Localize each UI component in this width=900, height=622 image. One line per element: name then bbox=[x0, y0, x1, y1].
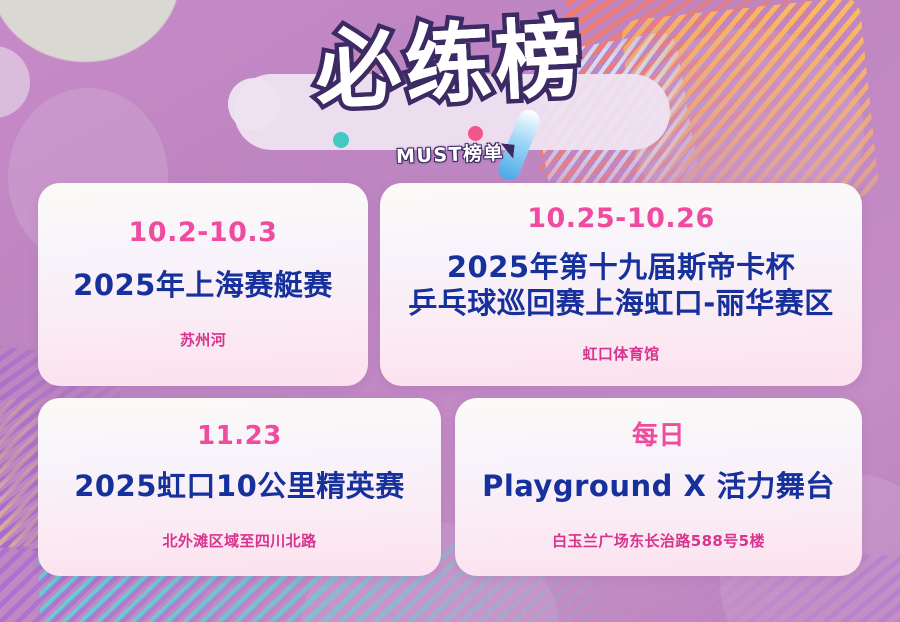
event-card-2[interactable]: 10.25-10.26 2025年第十九届斯帝卡杯 乒乓球巡回赛上海虹口-丽华赛… bbox=[380, 183, 862, 386]
event-title-line: 乒乓球巡回赛上海虹口-丽华赛区 bbox=[408, 286, 834, 321]
logo-subtitle: MUST榜单 bbox=[0, 124, 900, 182]
event-title-line: 2025年第十九届斯帝卡杯 bbox=[408, 250, 834, 285]
event-date: 每日 bbox=[632, 423, 685, 449]
event-venue: 虹口体育馆 bbox=[582, 343, 659, 364]
event-title-line: 2025年上海赛艇赛 bbox=[73, 268, 333, 303]
event-title: Playground X 活力舞台 bbox=[482, 469, 835, 504]
event-date: 10.2-10.3 bbox=[129, 219, 278, 246]
logo-group: 必练榜 必练榜 MUST榜单 bbox=[0, 0, 900, 182]
event-date: 10.25-10.26 bbox=[527, 205, 715, 232]
event-card-1[interactable]: 10.2-10.3 2025年上海赛艇赛 苏州河 bbox=[38, 183, 368, 386]
event-title: 2025虹口10公里精英赛 bbox=[74, 469, 405, 504]
event-title-line: Playground X 活力舞台 bbox=[482, 469, 835, 504]
event-card-4[interactable]: 每日 Playground X 活力舞台 白玉兰广场东长治路588号5楼 bbox=[455, 398, 862, 576]
event-venue: 白玉兰广场东长治路588号5楼 bbox=[552, 530, 765, 551]
must-list-poster: 必练榜 必练榜 MUST榜单 10.2-10.3 2025年上海赛艇赛 苏州河 … bbox=[0, 0, 900, 622]
event-title-line: 2025虹口10公里精英赛 bbox=[74, 469, 405, 504]
event-venue: 北外滩区域至四川北路 bbox=[162, 530, 316, 551]
event-title: 2025年上海赛艇赛 bbox=[73, 268, 333, 303]
event-card-3[interactable]: 11.23 2025虹口10公里精英赛 北外滩区域至四川北路 bbox=[38, 398, 441, 576]
event-date: 11.23 bbox=[197, 423, 282, 449]
poster-header: 必练榜 必练榜 MUST榜单 bbox=[0, 0, 900, 182]
event-title: 2025年第十九届斯帝卡杯 乒乓球巡回赛上海虹口-丽华赛区 bbox=[408, 250, 834, 321]
logo-title: 必练榜 bbox=[0, 0, 900, 131]
event-venue: 苏州河 bbox=[180, 329, 226, 350]
